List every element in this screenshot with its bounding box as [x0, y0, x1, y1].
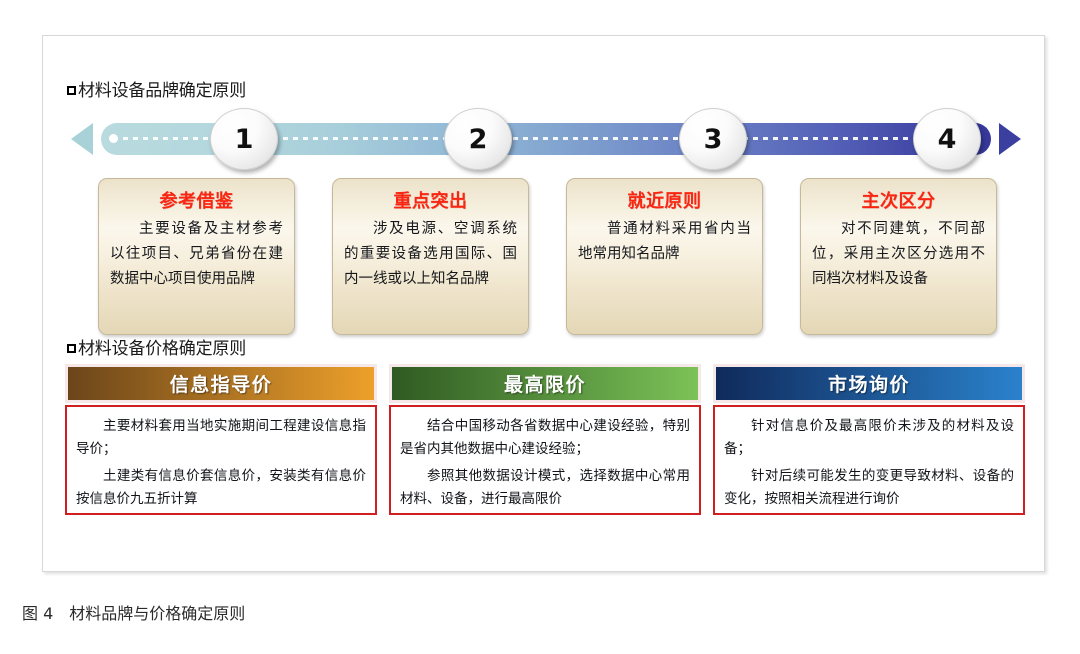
- section-heading-price-label: 材料设备价格确定原则: [78, 339, 246, 359]
- price-banner-3-label: 市场询价: [828, 370, 910, 397]
- triangle-right-icon: [999, 123, 1021, 155]
- figure-caption: 图 4 材料品牌与价格确定原则: [22, 600, 245, 624]
- price-textbox-2: 结合中国移动各省数据中心建设经验，特别是省内其他数据中心建设经验； 参照其他数据…: [389, 405, 701, 515]
- principle-card-3-title: 就近原则: [578, 187, 751, 213]
- square-bullet-icon: [67, 86, 76, 95]
- figure-frame: 材料设备品牌确定原则 1 2 3 4 参考借鉴 主要设备及主材参考以往项目、兄弟…: [42, 35, 1045, 572]
- price-textbox-1: 主要材料套用当地实施期间工程建设信息指导价； 土建类有信息价套信息价，安装类有信…: [65, 405, 377, 515]
- process-step-2-number: 2: [469, 124, 488, 155]
- process-step-4: 4: [913, 108, 981, 170]
- section-heading-price: 材料设备价格确定原则: [67, 334, 246, 359]
- process-arrow: 1 2 3 4: [67, 110, 1027, 168]
- price-banner-1: 信息指导价: [68, 367, 374, 400]
- principle-card-3-body: 普通材料采用省内当地常用知名品牌: [578, 217, 751, 267]
- price-banner-frame-2: 最高限价: [389, 364, 701, 403]
- process-step-3-number: 3: [704, 124, 723, 155]
- price-paragraph-1-2: 土建类有信息价套信息价，安装类有信息价按信息价九五折计算: [76, 465, 366, 511]
- price-banner-frame-3: 市场询价: [713, 364, 1025, 403]
- price-banner-1-label: 信息指导价: [170, 370, 273, 397]
- price-column-1: 信息指导价 主要材料套用当地实施期间工程建设信息指导价； 土建类有信息价套信息价…: [65, 364, 377, 515]
- process-step-4-number: 4: [938, 124, 957, 155]
- price-paragraph-3-2: 针对后续可能发生的变更导致材料、设备的变化，按照相关流程进行询价: [724, 465, 1014, 511]
- price-column-3: 市场询价 针对信息价及最高限价未涉及的材料及设备； 针对后续可能发生的变更导致材…: [713, 364, 1025, 515]
- price-textbox-3: 针对信息价及最高限价未涉及的材料及设备； 针对后续可能发生的变更导致材料、设备的…: [713, 405, 1025, 515]
- principle-card-4-title: 主次区分: [812, 187, 985, 213]
- arrow-start-dot-icon: [109, 134, 118, 143]
- principle-card-4: 主次区分 对不同建筑，不同部位，采用主次区分选用不同档次材料及设备: [800, 178, 997, 335]
- price-paragraph-1-1: 主要材料套用当地实施期间工程建设信息指导价；: [76, 415, 366, 461]
- principle-card-4-body: 对不同建筑，不同部位，采用主次区分选用不同档次材料及设备: [812, 217, 985, 292]
- principle-card-1-title: 参考借鉴: [110, 187, 283, 213]
- section-heading-brand: 材料设备品牌确定原则: [67, 76, 246, 101]
- price-banner-2: 最高限价: [392, 367, 698, 400]
- section-heading-brand-label: 材料设备品牌确定原则: [78, 81, 246, 101]
- price-banner-frame-1: 信息指导价: [65, 364, 377, 403]
- price-paragraph-3-1: 针对信息价及最高限价未涉及的材料及设备；: [724, 415, 1014, 461]
- price-banner-2-label: 最高限价: [504, 370, 586, 397]
- triangle-left-icon: [71, 123, 93, 155]
- price-column-2: 最高限价 结合中国移动各省数据中心建设经验，特别是省内其他数据中心建设经验； 参…: [389, 364, 701, 515]
- principle-card-3: 就近原则 普通材料采用省内当地常用知名品牌: [566, 178, 763, 335]
- price-paragraph-2-1: 结合中国移动各省数据中心建设经验，特别是省内其他数据中心建设经验；: [400, 415, 690, 461]
- process-step-2: 2: [444, 108, 512, 170]
- process-step-3: 3: [679, 108, 747, 170]
- principle-card-2-body: 涉及电源、空调系统的重要设备选用国际、国内一线或以上知名品牌: [344, 217, 517, 292]
- principle-card-2: 重点突出 涉及电源、空调系统的重要设备选用国际、国内一线或以上知名品牌: [332, 178, 529, 335]
- price-paragraph-2-2: 参照其他数据设计模式，选择数据中心常用材料、设备，进行最高限价: [400, 465, 690, 511]
- process-step-1-number: 1: [235, 124, 254, 155]
- principle-card-1: 参考借鉴 主要设备及主材参考以往项目、兄弟省份在建数据中心项目使用品牌: [98, 178, 295, 335]
- principle-card-2-title: 重点突出: [344, 187, 517, 213]
- price-banner-3: 市场询价: [716, 367, 1022, 400]
- process-step-1: 1: [210, 108, 278, 170]
- principle-card-1-body: 主要设备及主材参考以往项目、兄弟省份在建数据中心项目使用品牌: [110, 217, 283, 292]
- square-bullet-icon: [67, 344, 76, 353]
